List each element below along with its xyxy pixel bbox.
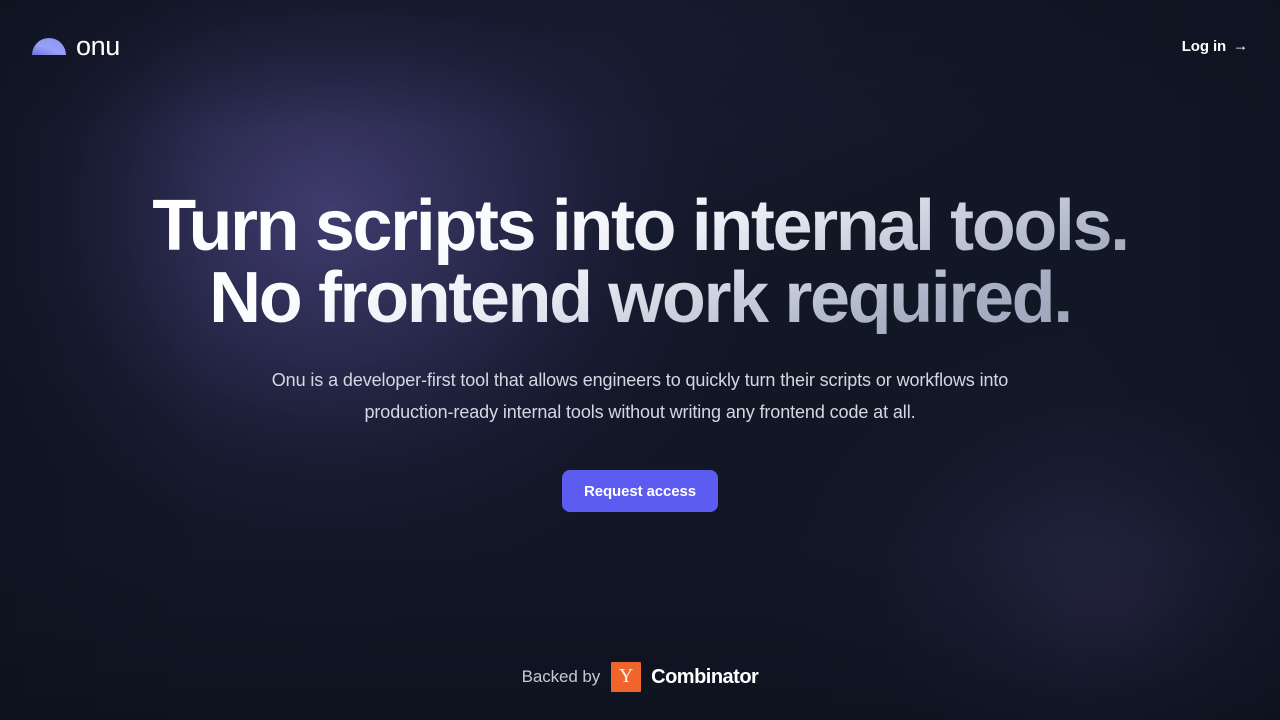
- landing-page: onu Log in → Turn scripts into internal …: [0, 0, 1280, 720]
- backed-by-label: Backed by: [522, 667, 600, 687]
- brand-name: onu: [76, 33, 120, 60]
- dome-logo-icon: [32, 37, 66, 55]
- brand-logo-link[interactable]: onu: [32, 33, 120, 60]
- ycombinator-letter: Y: [619, 666, 633, 686]
- ycombinator-link[interactable]: Y Combinator: [611, 662, 758, 692]
- cta-container: Request access: [562, 470, 718, 512]
- headline-line-2: No frontend work required.: [152, 262, 1128, 334]
- hero-section: Turn scripts into internal tools. No fro…: [0, 0, 1280, 720]
- subhead-line-2: production-ready internal tools without …: [272, 396, 1008, 428]
- arrow-right-icon: →: [1233, 38, 1248, 53]
- page-title: Turn scripts into internal tools. No fro…: [152, 190, 1128, 334]
- ycombinator-wordmark: Combinator: [651, 666, 758, 689]
- subhead-line-1: Onu is a developer-first tool that allow…: [272, 364, 1008, 396]
- hero-subheading: Onu is a developer-first tool that allow…: [272, 364, 1008, 428]
- backed-by-section: Backed by Y Combinator: [0, 662, 1280, 692]
- login-label: Log in: [1182, 38, 1226, 55]
- ycombinator-badge-icon: Y: [611, 662, 641, 692]
- request-access-button[interactable]: Request access: [562, 470, 718, 512]
- site-header: onu Log in →: [0, 0, 1280, 92]
- login-link[interactable]: Log in →: [1182, 38, 1248, 55]
- headline-line-1: Turn scripts into internal tools.: [152, 190, 1128, 262]
